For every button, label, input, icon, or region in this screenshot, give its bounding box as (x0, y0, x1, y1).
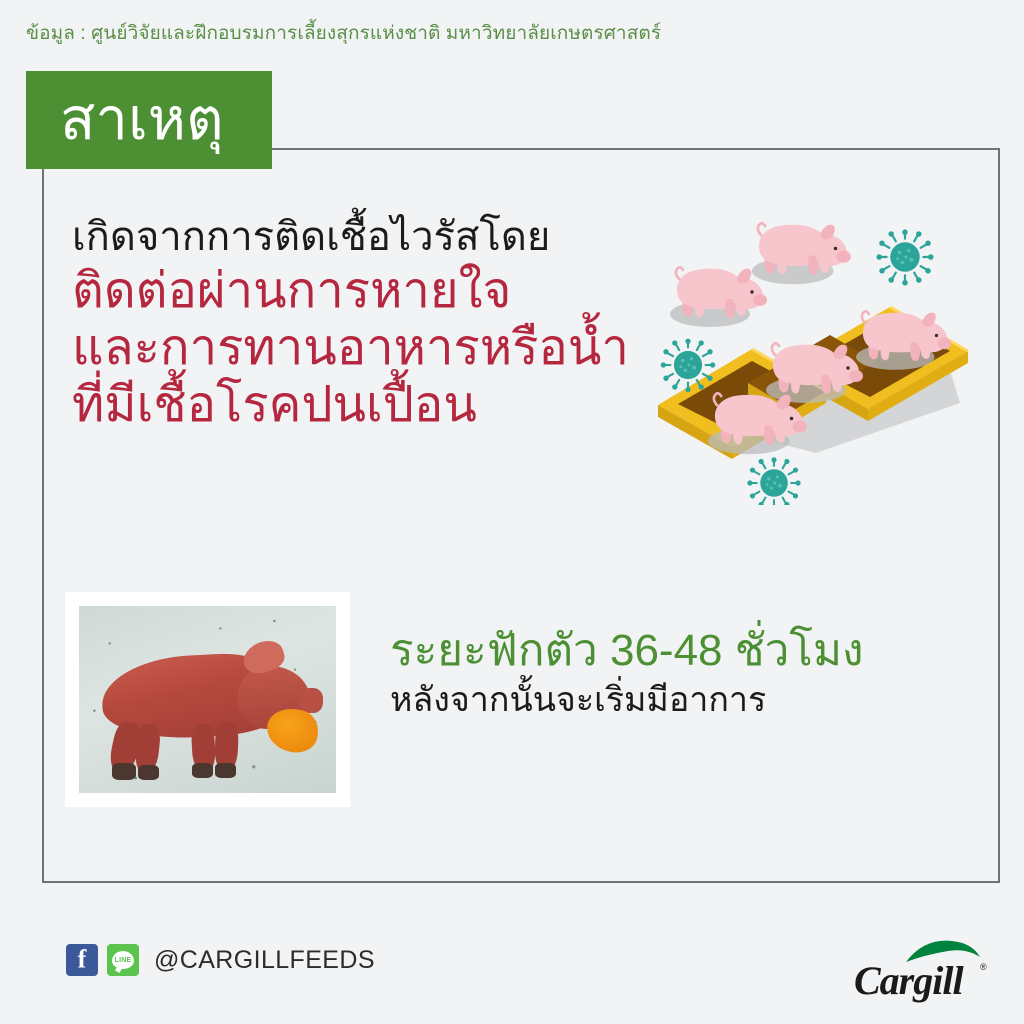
photo-pig-hoof (192, 763, 213, 778)
pig-trough-illustration (640, 215, 995, 505)
sick-pig-photo (65, 592, 350, 807)
cargill-wordmark: Cargill (854, 958, 964, 1003)
headline-block: เกิดจากการติดเชื้อไวรัสโดย ติดต่อผ่านการ… (72, 215, 672, 434)
photo-pig-hoof (138, 765, 159, 780)
line-icon[interactable]: LINE (107, 944, 139, 976)
infographic-canvas: ข้อมูล : ศูนย์วิจัยและฝึกอบรมการเลี้ยงสุ… (0, 0, 1024, 1024)
source-attribution: ข้อมูล : ศูนย์วิจัยและฝึกอบรมการเลี้ยงสุ… (26, 18, 661, 48)
incubation-period-text: ระยะฟักตัว 36-48 ชั่วโมง (390, 625, 950, 676)
photo-pig-snout (300, 688, 323, 712)
headline-line-2: ติดต่อผ่านการหายใจ (72, 264, 672, 319)
cargill-trademark: ® (980, 962, 987, 972)
headline-line-3: และการทานอาหารหรือน้ำ (72, 321, 672, 376)
photo-pig-hoof (215, 763, 236, 778)
section-badge: สาเหตุ (26, 71, 272, 169)
sick-pig-photo-image (79, 606, 336, 793)
headline-line-1: เกิดจากการติดเชื้อไวรัสโดย (72, 215, 672, 260)
facebook-icon[interactable] (66, 944, 98, 976)
photo-pig-hoof (112, 763, 135, 780)
line-icon-label: LINE (115, 957, 132, 964)
headline-line-4: ที่มีเชื้อโรคปนเปื้อน (72, 378, 672, 433)
footer: LINE @CARGILLFEEDS Cargill ® (0, 924, 1024, 1024)
incubation-followup-text: หลังจากนั้นจะเริ่มมีอาการ (390, 680, 950, 721)
social-handle: @CARGILLFEEDS (154, 946, 375, 975)
incubation-block: ระยะฟักตัว 36-48 ชั่วโมง หลังจากนั้นจะเร… (390, 625, 950, 721)
social-links[interactable]: LINE @CARGILLFEEDS (66, 944, 375, 976)
line-bubble-shape: LINE (112, 951, 134, 969)
section-badge-label: สาเหตุ (60, 91, 224, 149)
cargill-logo: Cargill ® (848, 932, 1000, 1006)
